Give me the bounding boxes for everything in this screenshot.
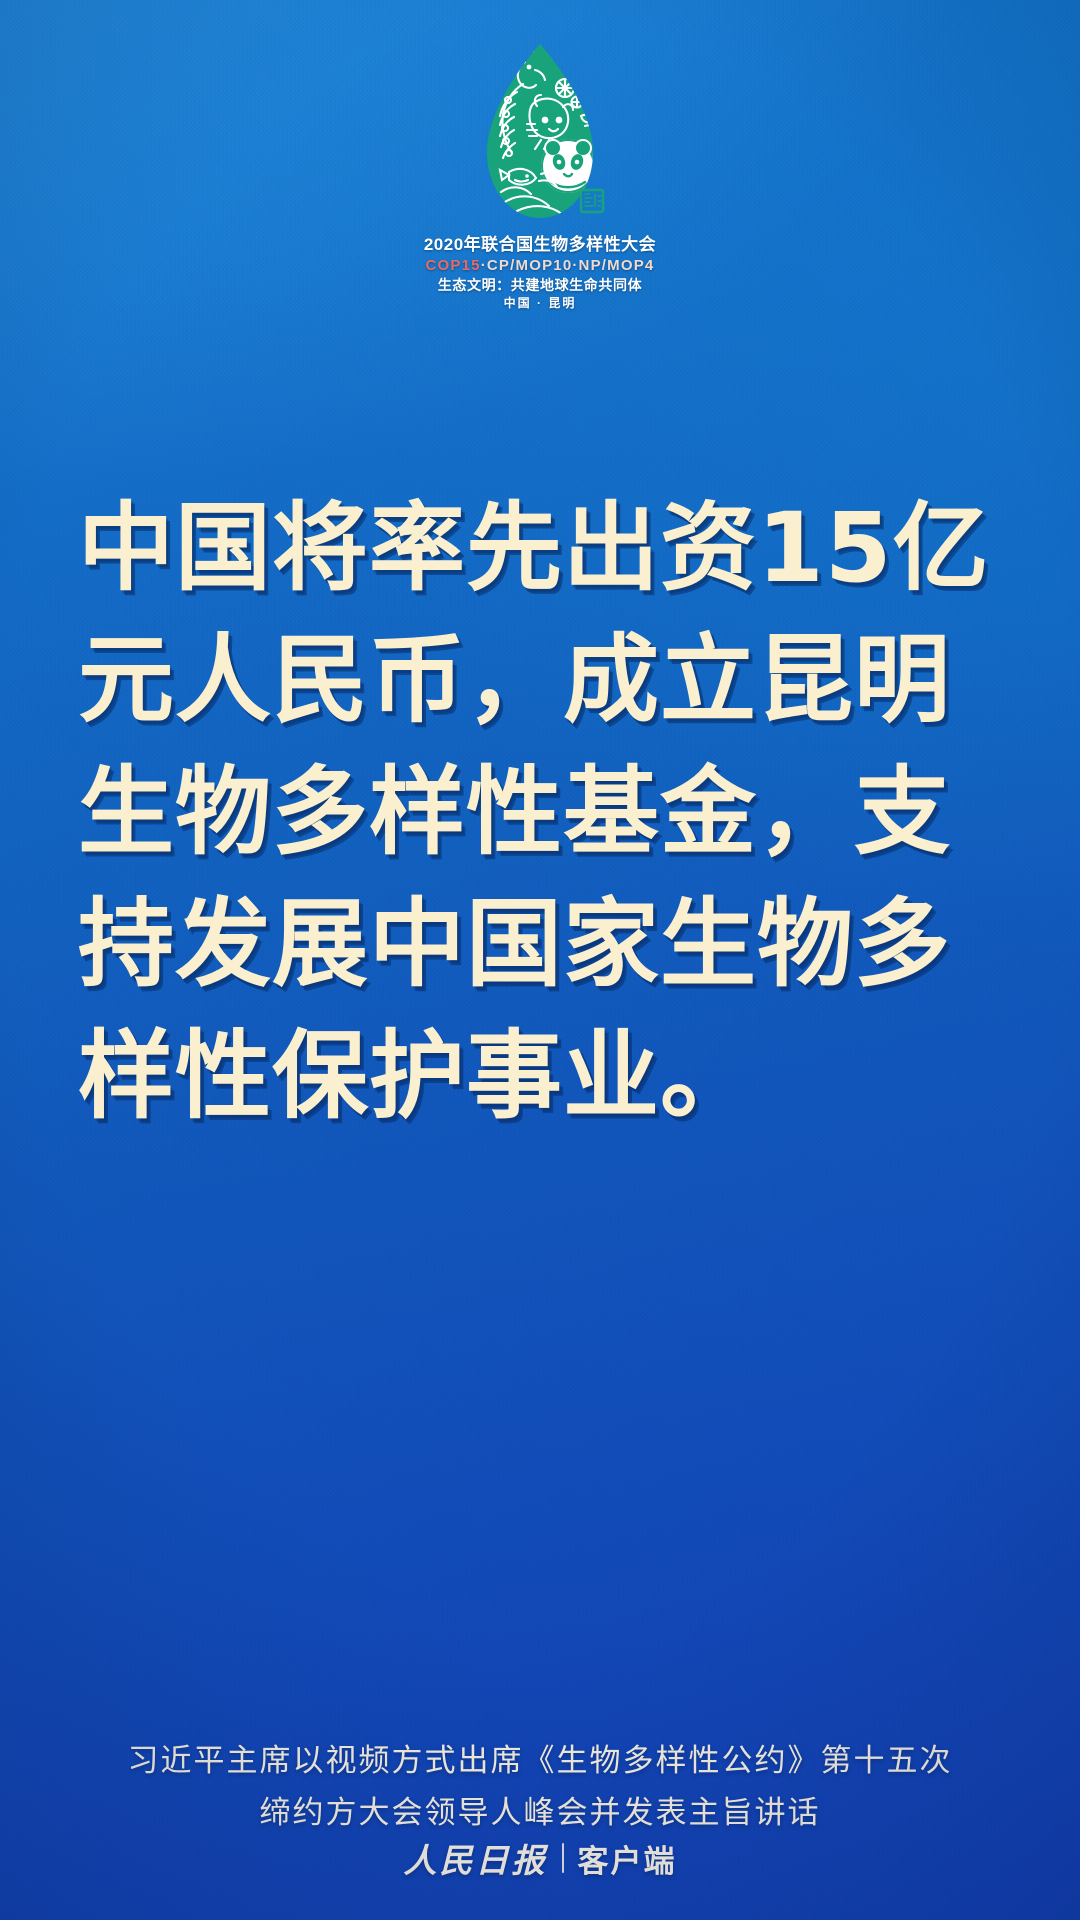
conference-name-cn: 2020年联合国生物多样性大会 [424,236,656,253]
publisher-brand: 人民日报 客户端 [0,1834,1080,1882]
headline-line-2: 元人民币，成立昆明 [78,614,1018,746]
caption-block: 习近平主席以视频方式出席《生物多样性公约》第十五次 缔约方大会领导人峰会并发表主… [0,1735,1080,1839]
poster-canvas: 2020年联合国生物多样性大会 COP15·CP/MOP10·NP/MOP4 生… [0,0,1080,1920]
headline-line-3: 生物多样性基金，支 [78,746,1018,878]
cop15-teardrop-emblem-icon [465,40,615,230]
kunming-seal-icon [581,190,603,212]
caption-line-2: 缔约方大会领导人峰会并发表主旨讲话 [0,1787,1080,1839]
conference-code-prefix: COP15 [426,257,481,274]
headline-line-4: 持发展中国家生物多 [78,878,1018,1010]
conference-logo-text: 2020年联合国生物多样性大会 COP15·CP/MOP10·NP/MOP4 生… [424,236,656,309]
peoples-daily-logo: 人民日报 [404,1834,548,1882]
conference-code: COP15·CP/MOP10·NP/MOP4 [424,258,656,273]
brand-divider [562,1843,564,1873]
conference-theme: 生态文明：共建地球生命共同体 [424,278,656,292]
conference-logo-block: 2020年联合国生物多样性大会 COP15·CP/MOP10·NP/MOP4 生… [0,40,1080,309]
brand-product-label: 客户端 [578,1836,677,1881]
headline-line-5: 样性保护事业。 [78,1010,1018,1142]
caption-line-1: 习近平主席以视频方式出席《生物多样性公约》第十五次 [0,1735,1080,1787]
conference-location: 中国 · 昆明 [424,297,656,309]
headline-line-1: 中国将率先出资15亿 [78,482,1018,614]
conference-code-rest: ·CP/MOP10·NP/MOP4 [481,257,655,274]
headline-block: 中国将率先出资15亿 元人民币，成立昆明 生物多样性基金，支 持发展中国家生物多… [78,482,1018,1142]
